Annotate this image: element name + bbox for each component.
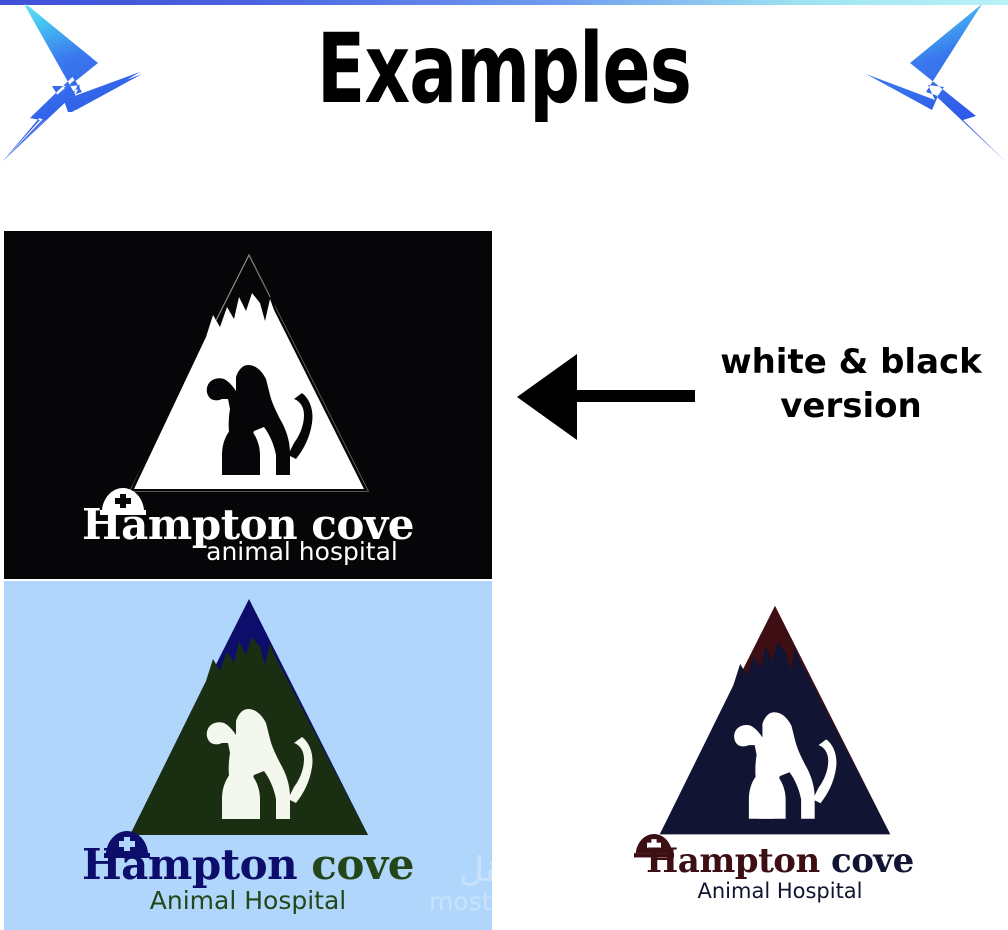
annotation-line-2: version	[701, 384, 1001, 428]
mountain-animal-mark	[124, 593, 374, 841]
mountain-animal-mark	[650, 600, 900, 840]
annotation-group: white & black version	[505, 340, 1005, 470]
logo-wordmark-block: Hampton cove animal hospital	[4, 503, 492, 565]
left-arrow-icon	[515, 352, 700, 447]
logo-tagline: Animal Hospital	[610, 879, 950, 903]
logo-color-green[interactable]: Hampton cove Animal Hospital	[4, 581, 492, 930]
lightning-bolt-icon	[848, 0, 1008, 165]
wordmark-hampton: Hampton	[646, 841, 820, 881]
wordmark-line: Hampton cove	[4, 843, 492, 887]
wordmark-line: Hampton cove	[610, 843, 950, 879]
logo-black-white[interactable]: Hampton cove animal hospital	[4, 231, 492, 579]
logo-tagline: Animal Hospital	[4, 887, 492, 915]
wordmark-cove: cove	[831, 841, 914, 881]
mountain-animal-mark	[124, 249, 374, 497]
page-title: Examples	[91, 14, 918, 124]
logo-wordmark-block: Hampton cove Animal Hospital	[610, 843, 950, 903]
logo-color-maroon[interactable]: Hampton cove Animal Hospital	[610, 600, 950, 930]
wordmark-cove: cove	[311, 840, 414, 889]
wordmark-hampton: Hampton	[82, 840, 297, 889]
annotation-line-1: white & black	[701, 340, 1001, 384]
logo-wordmark-block: Hampton cove Animal Hospital	[4, 843, 492, 915]
annotation-text: white & black version	[701, 340, 1001, 428]
header: Examples	[0, 0, 1008, 175]
